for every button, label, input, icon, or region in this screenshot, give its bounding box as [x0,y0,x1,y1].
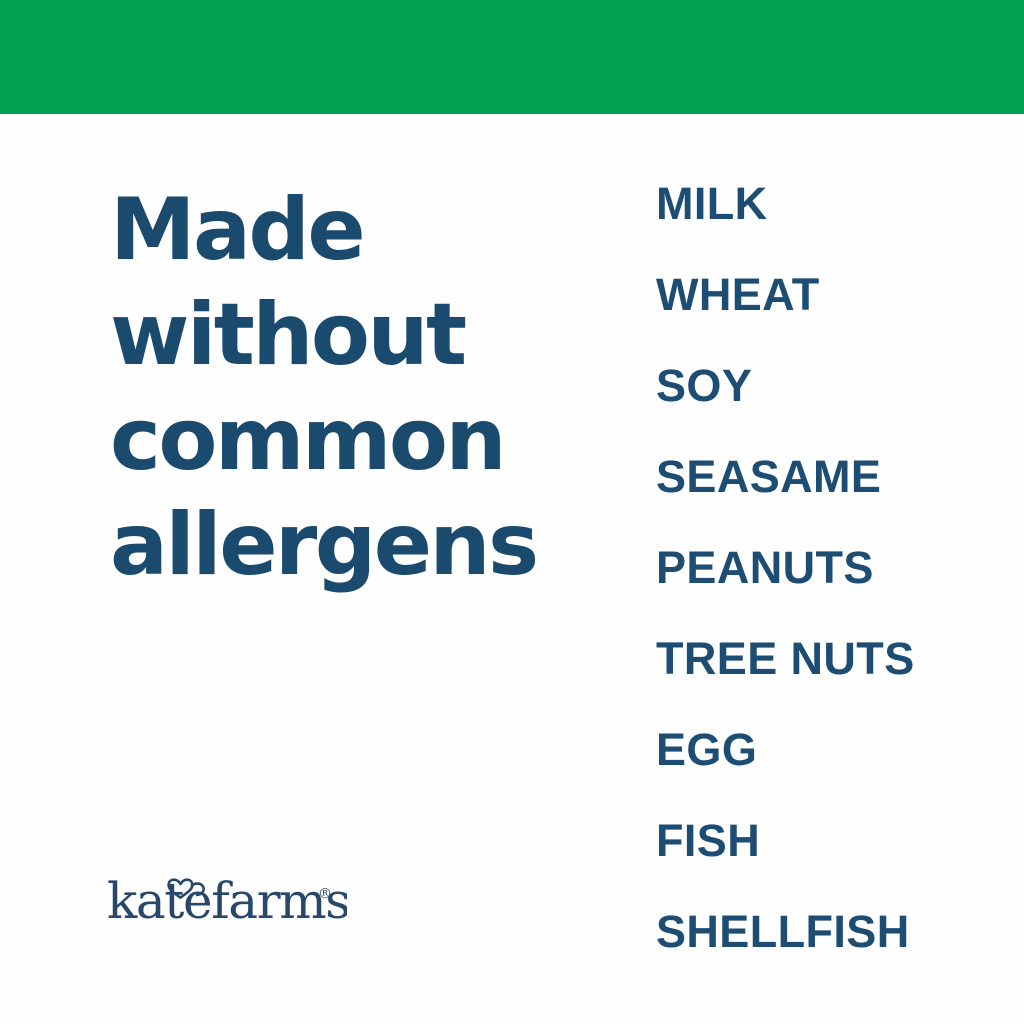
list-item: FISH [656,795,1006,886]
list-item: WHEAT [656,249,1006,340]
logo-wordmark: katefarms [107,872,347,926]
poster-canvas: Made without common allergens MILK WHEAT… [0,0,1024,1024]
registered-trademark-icon: ® [318,886,332,902]
page-title: Made without common allergens [110,178,580,598]
list-item: SOY [656,340,1006,431]
headline-line-1: Made [110,178,580,283]
list-item: MILK [656,158,1006,249]
headline-line-4: allergens [110,493,580,598]
allergen-list: MILK WHEAT SOY SEASAME PEANUTS TREE NUTS… [656,158,1006,977]
list-item: TREE NUTS [656,613,1006,704]
headline-line-2: without [110,283,580,388]
headline-line-3: common [110,388,580,493]
list-item: PEANUTS [656,522,1006,613]
brand-logo: katefarms ® [107,862,347,926]
list-item: EGG [656,704,1006,795]
list-item: SHELLFISH [656,886,1006,977]
top-green-band [0,0,1024,114]
list-item: SEASAME [656,431,1006,522]
